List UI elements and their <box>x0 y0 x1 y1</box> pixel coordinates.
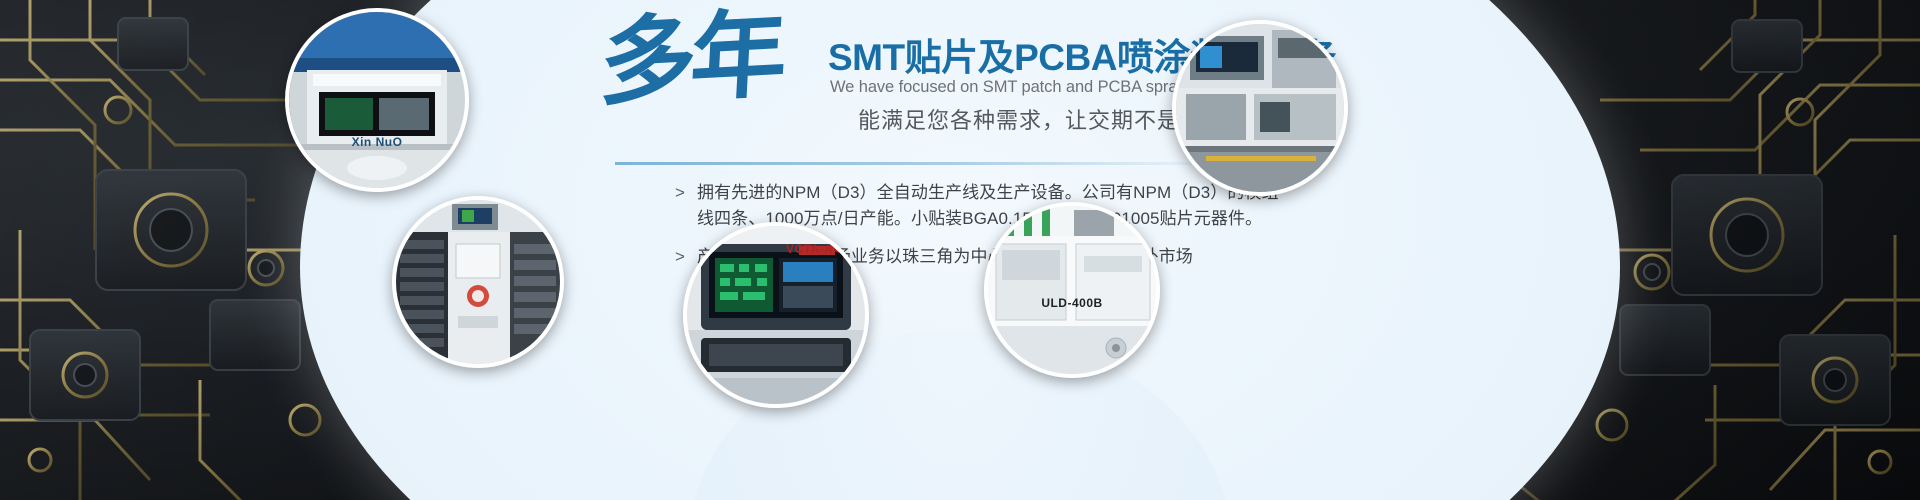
photo-caption: Xin NuO <box>289 135 465 149</box>
promo-banner: 多年 SMT贴片及PCBA喷涂装配服务 We have focused on S… <box>0 0 1920 500</box>
calligraphy-years: 多年 <box>596 4 773 133</box>
uld-loader-photo <box>988 206 1156 374</box>
photo-uld-loader: ULD-400B <box>984 202 1160 378</box>
divider <box>615 162 1230 165</box>
photo-pick-and-place <box>392 196 564 368</box>
smt-printer-photo <box>289 12 465 188</box>
pick-and-place-photo <box>396 200 560 364</box>
smt-line-photo <box>1176 24 1344 192</box>
photo-smt-printer: Xin NuO <box>285 8 469 192</box>
chevron-right-icon: > <box>675 244 685 270</box>
subtitle-chinese: 能满足您各种需求，让交期不是问题 <box>858 103 1226 135</box>
photo-smt-line <box>1172 20 1348 196</box>
photo-caption: ULD-400B <box>988 296 1156 310</box>
photo-aoi-inspection: VCTA-A410 <box>683 222 869 408</box>
photo-caption: VCTA-A410 <box>786 242 855 256</box>
chevron-right-icon: > <box>675 180 685 232</box>
